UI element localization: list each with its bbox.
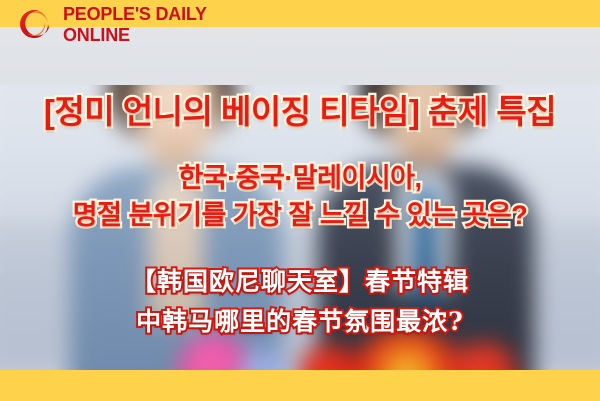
korean-headline-line-1: [정미 언니의 베이징 티타임] 춘제 특집 [0, 85, 600, 133]
korean-headline-line-2: 한국·중국·말레이시아, [0, 156, 600, 195]
chinese-headline-line-1: 【韩国欧尼聊天室】春节特辑 [0, 262, 600, 298]
video-thumbnail-poster: PEOPLE'S DAILY ONLINE [정미 언니의 베이징 티타임] 춘… [0, 0, 600, 401]
headline-stack: [정미 언니의 베이징 티타임] 춘제 특집 한국·중국·말레이시아, 명절 분… [0, 27, 600, 370]
korean-headline-line-3: 명절 분위기를 가장 잘 느낄 수 있는 곳은? [0, 193, 600, 232]
bottom-yellow-band [0, 370, 600, 401]
brand-name-line-1: PEOPLE'S DAILY [63, 5, 207, 23]
chinese-headline-line-2: 中韩马哪里的春节氛围最浓? [0, 302, 600, 338]
